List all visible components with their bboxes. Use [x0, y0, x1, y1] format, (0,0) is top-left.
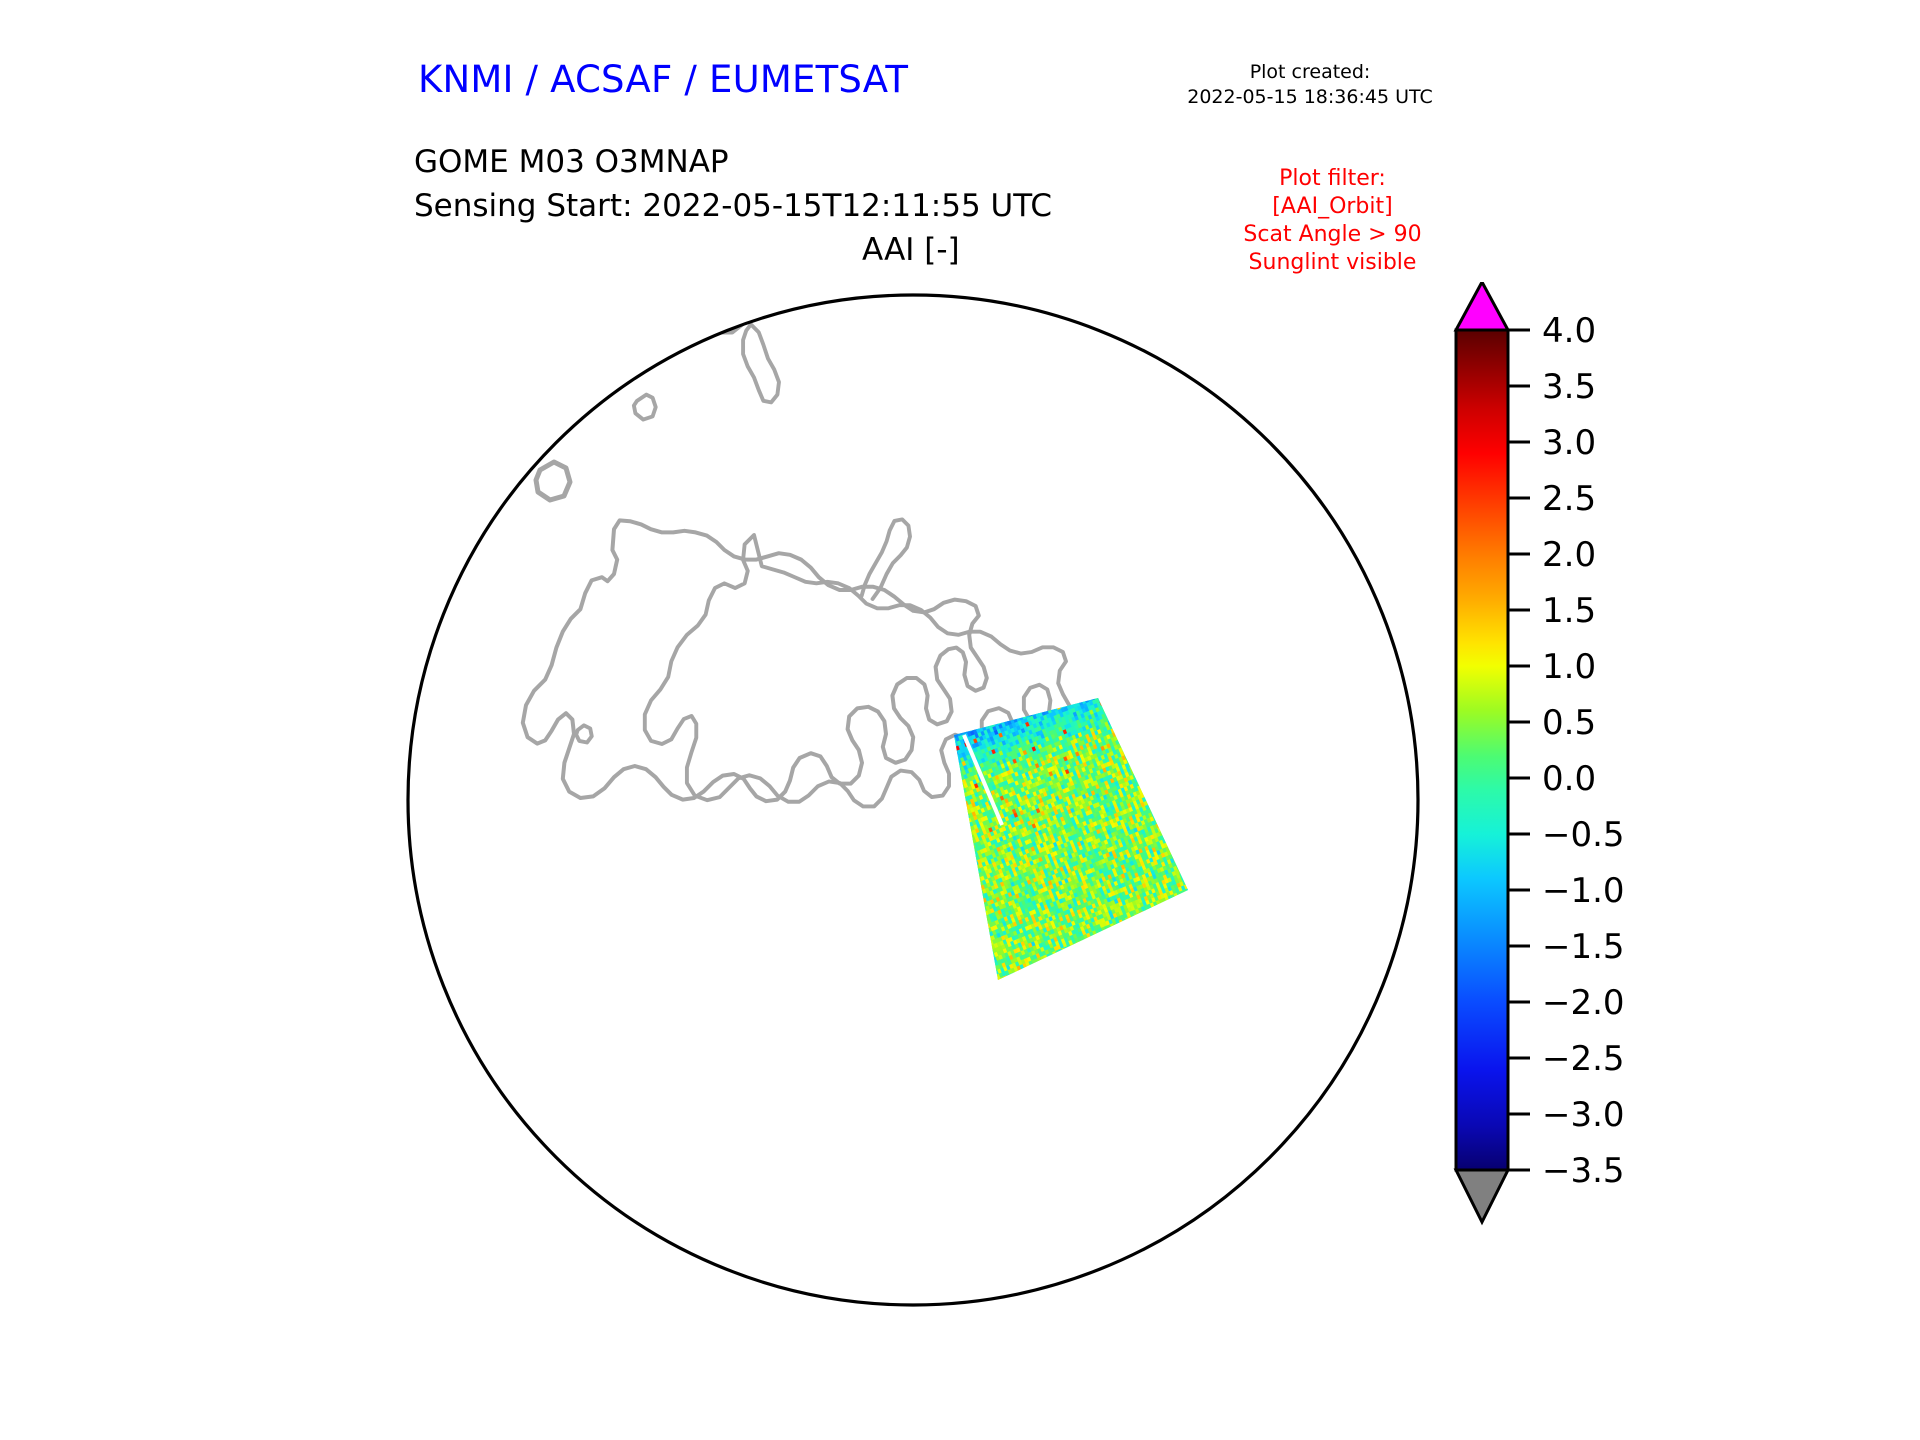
colorbar-tick-label: −1.5: [1542, 927, 1625, 967]
colorbar-tick-label: −2.5: [1542, 1039, 1625, 1079]
colorbar-tick-label: −3.5: [1542, 1151, 1625, 1191]
colorbar-tick-label: −1.0: [1542, 871, 1625, 911]
colorbar-tick-label: −3.0: [1542, 1095, 1625, 1135]
plot-created-label: Plot created:: [1165, 60, 1455, 85]
dataset-block: GOME M03 O3MNAP Sensing Start: 2022-05-1…: [414, 140, 1052, 228]
plot-filter-block: Plot filter: [AAI_Orbit] Scat Angle > 90…: [1215, 165, 1450, 277]
island-small-west: [576, 725, 592, 742]
colorbar-tick-label: 0.5: [1542, 703, 1596, 743]
plot-filter-label: Plot filter:: [1215, 165, 1450, 193]
colorbar-tick-label: 0.0: [1542, 759, 1596, 799]
colorbar-canvas: 4.03.53.02.52.01.51.00.50.0−0.5−1.0−1.5−…: [1438, 282, 1738, 1302]
colorbar-tick-label: 2.0: [1542, 535, 1596, 575]
coastline-layer: [523, 520, 987, 801]
colorbar-tick-label: 3.0: [1542, 423, 1596, 463]
polar-disc-outline: [408, 295, 1418, 1305]
plot-filter-name: [AAI_Orbit]: [1215, 193, 1450, 221]
colorbar-gradient: [1456, 330, 1508, 1170]
island-blob-northwest: [536, 462, 570, 500]
variable-title: AAI [-]: [862, 232, 960, 268]
polar-map: [398, 280, 1428, 1315]
instrument-line: GOME M03 O3MNAP: [414, 140, 1052, 184]
org-title: KNMI / ACSAF / EUMETSAT: [418, 58, 908, 101]
colorbar-over-arrow: [1456, 282, 1508, 330]
plot-created-value: 2022-05-15 18:36:45 UTC: [1165, 85, 1455, 110]
plot-filter-sunglint: Sunglint visible: [1215, 249, 1450, 277]
satellite-swath: [888, 640, 1262, 1042]
plot-filter-scat-angle: Scat Angle > 90: [1215, 221, 1450, 249]
colorbar-under-arrow: [1456, 1170, 1508, 1222]
colorbar: 4.03.53.02.52.01.51.00.50.0−0.5−1.0−1.5−…: [1438, 282, 1738, 1302]
colorbar-tick-label: 1.5: [1542, 591, 1596, 631]
northern-islands-layer: [536, 280, 750, 500]
colorbar-tick-label: 4.0: [1542, 311, 1596, 351]
plot-created-block: Plot created: 2022-05-15 18:36:45 UTC: [1165, 60, 1455, 110]
colorbar-tick-label: −0.5: [1542, 815, 1625, 855]
colorbar-tick-label: 3.5: [1542, 367, 1596, 407]
colorbar-ticks: 4.03.53.02.52.01.51.00.50.0−0.5−1.0−1.5−…: [1508, 311, 1625, 1191]
sensing-start-line: Sensing Start: 2022-05-15T12:11:55 UTC: [414, 184, 1052, 228]
colorbar-tick-label: −2.0: [1542, 983, 1625, 1023]
colorbar-tick-label: 2.5: [1542, 479, 1596, 519]
south-america-tip: [743, 324, 779, 402]
colorbar-tick-label: 1.0: [1542, 647, 1596, 687]
map-canvas: [398, 280, 1428, 1315]
island-group-north: [634, 395, 656, 420]
swath-pixels: [888, 640, 1262, 1042]
antarctica-coastline: [523, 520, 987, 801]
